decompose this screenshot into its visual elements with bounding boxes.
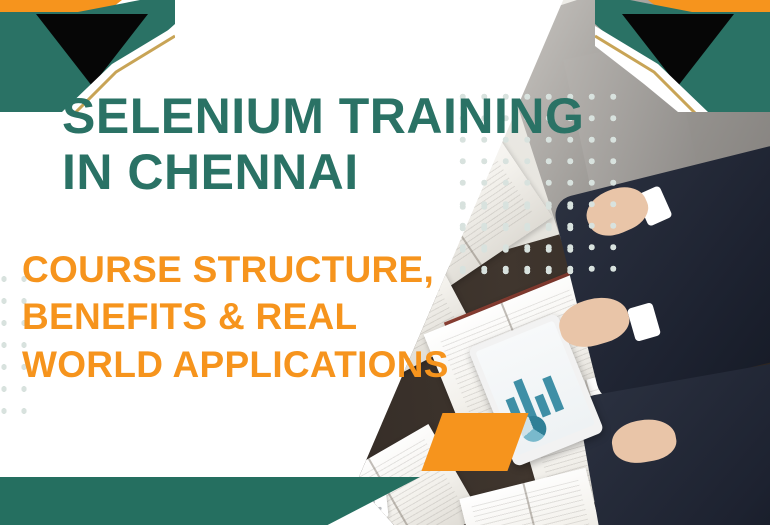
banner-subtitle-line-2: BENEFITS & REAL — [22, 293, 542, 340]
banner-title-line-2: IN CHENNAI — [62, 144, 682, 200]
banner-subtitle-line-1: COURSE STRUCTURE, — [22, 246, 542, 293]
promotional-banner: SELENIUM TRAINING IN CHENNAI COURSE STRU… — [0, 0, 770, 525]
subtitle-block: COURSE STRUCTURE, BENEFITS & REAL WORLD … — [22, 246, 542, 388]
banner-subtitle-line-3: WORLD APPLICATIONS — [22, 341, 542, 388]
teal-angled-bar — [0, 477, 420, 525]
banner-title-line-1: SELENIUM TRAINING — [62, 88, 682, 144]
headline-block: SELENIUM TRAINING IN CHENNAI — [62, 88, 682, 200]
